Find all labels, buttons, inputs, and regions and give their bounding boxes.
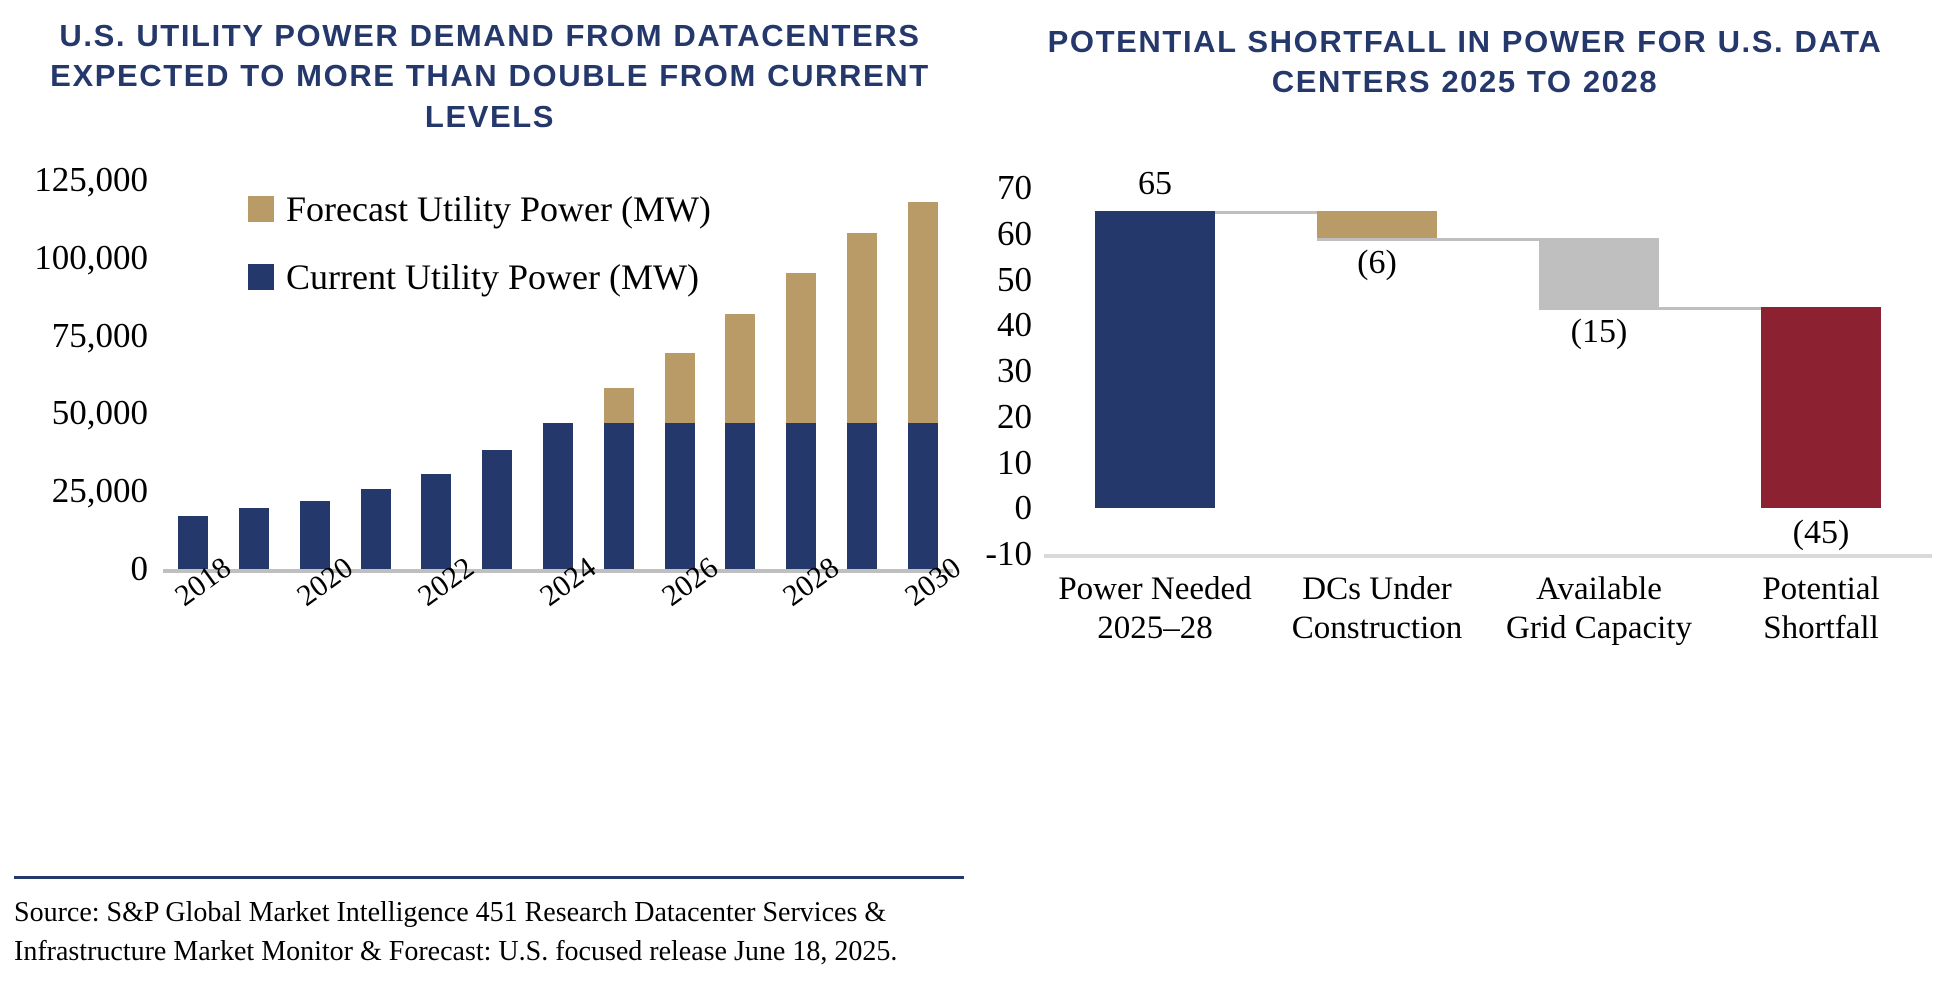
left-y-tick-100000: 100,000	[0, 240, 148, 275]
category-label-2: AvailableGrid Capacity	[1488, 570, 1710, 648]
right-y-tick-60: 60	[980, 216, 1032, 251]
right-y-tick-30: 30	[980, 353, 1032, 388]
waterfall-label-2: (15)	[1509, 313, 1689, 351]
forecast-bar-2029	[847, 233, 877, 423]
category-label-0: Power Needed2025–28	[1044, 570, 1266, 648]
left-panel: U.S. UTILITY POWER DEMAND FROM DATACENTE…	[0, 0, 980, 990]
right-chart-plot: -10010203040506070 65(6)(15)(45) Power N…	[980, 150, 1950, 730]
left-y-tick-50000: 50,000	[0, 395, 148, 430]
current-bar-2023	[482, 450, 512, 569]
current-bar-2019	[239, 508, 269, 569]
current-bar-2028	[786, 423, 816, 569]
forecast-bar-2025	[604, 388, 634, 423]
category-label-line: Available	[1488, 570, 1710, 609]
current-bar-2024	[543, 423, 573, 569]
left-y-tick-0: 0	[0, 551, 148, 586]
waterfall-bar-1	[1317, 211, 1437, 238]
current-bar-2027	[725, 423, 755, 569]
waterfall-bar-2	[1539, 238, 1659, 307]
right-y-tick-20: 20	[980, 399, 1032, 434]
waterfall-label-1: (6)	[1287, 244, 1467, 282]
forecast-bar-2026	[665, 353, 695, 423]
waterfall-label-3: (45)	[1731, 514, 1911, 552]
right-y-tick-70: 70	[980, 170, 1032, 205]
left-chart-plot: 025,00050,00075,000100,000125,000 201820…	[0, 150, 980, 710]
current-bar-2026	[665, 423, 695, 569]
forecast-bar-2027	[725, 314, 755, 423]
category-label-line: Construction	[1266, 609, 1488, 648]
legend-item-forecast[interactable]: Forecast Utility Power (MW)	[248, 188, 711, 230]
category-label-line: DCs Under	[1266, 570, 1488, 609]
legend-swatch-icon	[248, 264, 274, 290]
right-y-tick-40: 40	[980, 307, 1032, 342]
infographic-root: U.S. UTILITY POWER DEMAND FROM DATACENTE…	[0, 0, 1950, 990]
right-y-tick-10: 10	[980, 445, 1032, 480]
waterfall-bar-3	[1761, 307, 1881, 508]
category-label-line: 2025–28	[1044, 609, 1266, 648]
left-y-tick-125000: 125,000	[0, 162, 148, 197]
legend-item-current[interactable]: Current Utility Power (MW)	[248, 256, 711, 298]
current-bar-2030	[908, 423, 938, 569]
left-footer: Source: S&P Global Market Intelligence 4…	[14, 876, 964, 973]
legend-item-label: Current Utility Power (MW)	[286, 256, 699, 298]
waterfall-label-0: 65	[1065, 165, 1245, 203]
left-y-tick-75000: 75,000	[0, 318, 148, 353]
waterfall-bar-0	[1095, 211, 1215, 508]
category-label-line: Power Needed	[1044, 570, 1266, 609]
category-label-line: Potential	[1710, 570, 1932, 609]
right-y-tick-0: 0	[980, 490, 1032, 525]
right-y-tick-50: 50	[980, 262, 1032, 297]
current-bar-2020	[300, 501, 330, 569]
right-y-tick--10: -10	[980, 536, 1032, 571]
right-chart-title: POTENTIAL SHORTFALL IN POWER FOR U.S. DA…	[1000, 22, 1930, 103]
left-y-tick-25000: 25,000	[0, 473, 148, 508]
category-label-1: DCs UnderConstruction	[1266, 570, 1488, 648]
left-source-text: Source: S&P Global Market Intelligence 4…	[14, 893, 964, 973]
forecast-bar-2030	[908, 202, 938, 423]
current-bar-2021	[361, 489, 391, 569]
current-bar-2022	[421, 474, 451, 569]
legend-item-label: Forecast Utility Power (MW)	[286, 188, 711, 230]
left-chart-legend: Forecast Utility Power (MW)Current Utili…	[248, 188, 711, 324]
category-label-3: PotentialShortfall	[1710, 570, 1932, 648]
left-footer-rule	[14, 876, 964, 879]
current-bar-2029	[847, 423, 877, 569]
left-chart-title: U.S. UTILITY POWER DEMAND FROM DATACENTE…	[10, 16, 970, 137]
legend-swatch-icon	[248, 196, 274, 222]
forecast-bar-2028	[786, 273, 816, 422]
right-x-axis-line	[1044, 554, 1932, 558]
right-panel: POTENTIAL SHORTFALL IN POWER FOR U.S. DA…	[980, 0, 1950, 990]
category-label-line: Shortfall	[1710, 609, 1932, 648]
current-bar-2025	[604, 423, 634, 569]
category-label-line: Grid Capacity	[1488, 609, 1710, 648]
